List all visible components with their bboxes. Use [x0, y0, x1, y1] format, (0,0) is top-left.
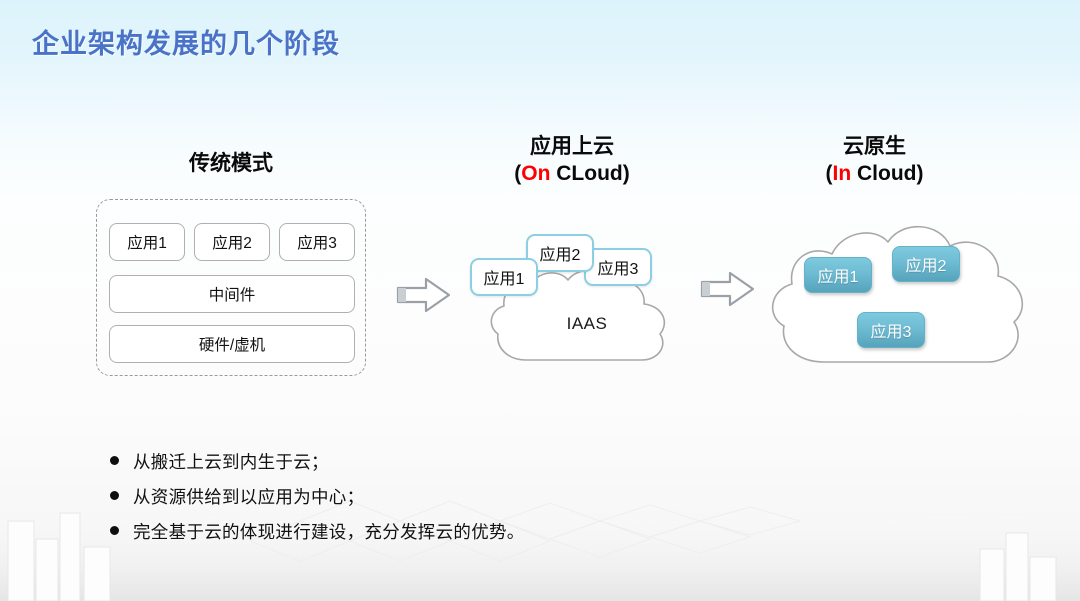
traditional-app-3[interactable]: 应用3 — [279, 223, 355, 261]
bullet-dot-icon — [110, 491, 119, 500]
on-cloud-app-3[interactable]: 应用3 — [584, 248, 652, 286]
traditional-hardware-layer[interactable]: 硬件/虚机 — [109, 325, 355, 363]
bullet-text-3: 完全基于云的体现进行建设，充分发挥云的优势。 — [133, 522, 525, 543]
page-title: 企业架构发展的几个阶段 — [32, 22, 340, 61]
heading-on-cloud-en: (On CLoud) — [452, 162, 692, 187]
bullet-text-2: 从资源供给到以应用为中心； — [133, 487, 364, 508]
list-item: 完全基于云的体现进行建设，充分发挥云的优势。 — [110, 522, 810, 543]
native-cloud-shape — [762, 212, 1034, 392]
heading-in-cloud-en-highlight: In — [833, 162, 852, 185]
slide-canvas: 企业架构发展的几个阶段 传统模式 应用1 应用2 应用3 中间件 硬件/虚机 应… — [0, 0, 1080, 601]
in-cloud-app-1[interactable]: 应用1 — [804, 257, 872, 293]
bullet-text-1: 从搬迁上云到内生于云； — [133, 452, 329, 473]
heading-in-cloud: 云原生 (In Cloud) — [762, 135, 987, 187]
heading-on-cloud: 应用上云 (On CLoud) — [452, 135, 692, 187]
list-item: 从搬迁上云到内生于云； — [110, 452, 810, 473]
heading-on-cloud-en-highlight: On — [521, 162, 550, 185]
in-cloud-app-3[interactable]: 应用3 — [857, 312, 925, 348]
in-cloud-diagram: 应用1 应用2 应用3 — [762, 212, 1034, 392]
traditional-app-2[interactable]: 应用2 — [194, 223, 270, 261]
traditional-app-row: 应用1 应用2 应用3 — [109, 223, 355, 261]
traditional-stack-container: 应用1 应用2 应用3 中间件 硬件/虚机 — [96, 199, 366, 376]
traditional-middleware-layer[interactable]: 中间件 — [109, 275, 355, 313]
right-arrow-icon-1 — [396, 276, 452, 314]
heading-in-cloud-en: (In Cloud) — [762, 162, 987, 187]
heading-in-cloud-en-open: ( — [826, 162, 833, 185]
heading-traditional: 传统模式 — [96, 152, 366, 177]
right-arrow-icon-2 — [700, 270, 756, 308]
heading-in-cloud-en-rest: Cloud) — [851, 162, 923, 185]
bullet-dot-icon — [110, 526, 119, 535]
heading-on-cloud-en-rest: CLoud) — [550, 162, 629, 185]
heading-traditional-cn: 传统模式 — [96, 152, 366, 177]
in-cloud-app-2[interactable]: 应用2 — [892, 246, 960, 282]
bullet-dot-icon — [110, 456, 119, 465]
heading-in-cloud-cn: 云原生 — [762, 135, 987, 160]
on-cloud-diagram: IAAS 应用1 应用2 应用3 — [482, 232, 692, 382]
traditional-app-1[interactable]: 应用1 — [109, 223, 185, 261]
list-item: 从资源供给到以应用为中心； — [110, 487, 810, 508]
iaas-cloud-label: IAAS — [482, 314, 692, 334]
on-cloud-app-1[interactable]: 应用1 — [470, 258, 538, 296]
bullet-list: 从搬迁上云到内生于云； 从资源供给到以应用为中心； 完全基于云的体现进行建设，充… — [110, 452, 810, 557]
heading-on-cloud-cn: 应用上云 — [452, 135, 692, 160]
